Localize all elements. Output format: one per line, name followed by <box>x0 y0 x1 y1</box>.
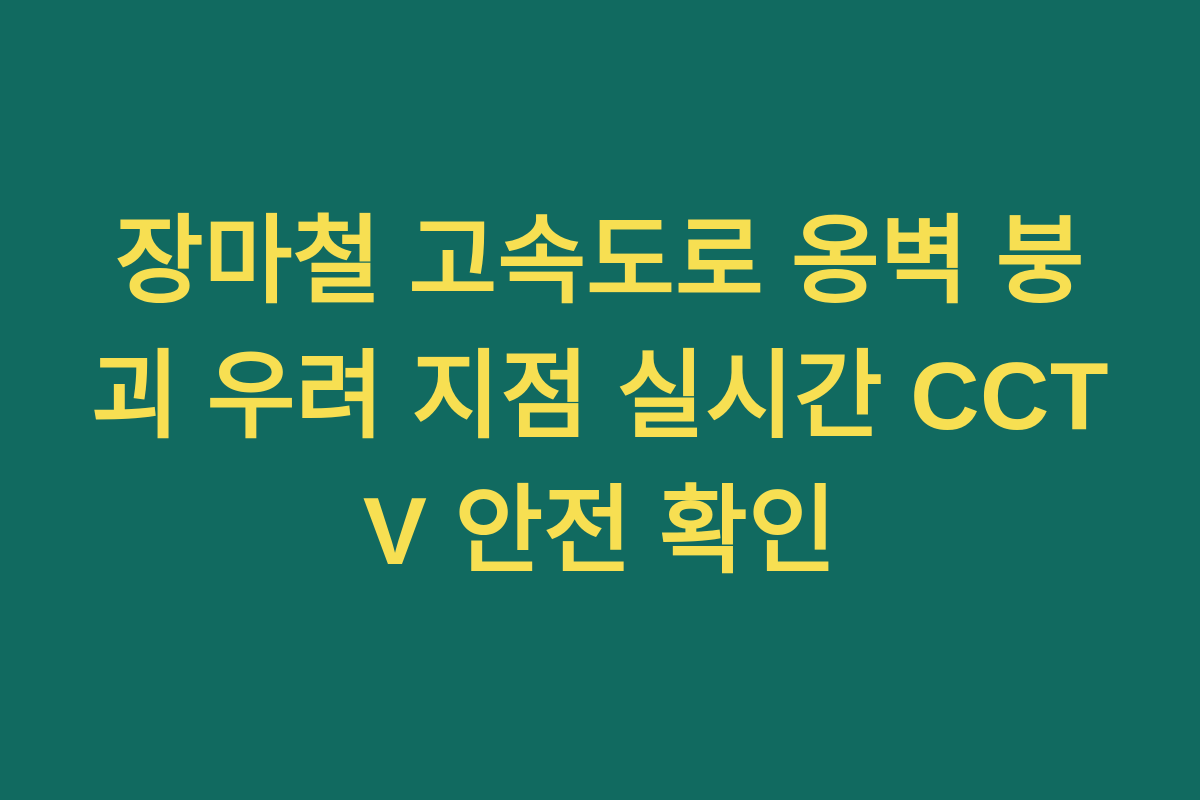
headline-text: 장마철 고속도로 옹벽 붕괴 우려 지점 실시간 CCTV 안전 확인 <box>90 194 1110 599</box>
thumbnail-card: 장마철 고속도로 옹벽 붕괴 우려 지점 실시간 CCTV 안전 확인 <box>0 0 1200 800</box>
headline-block: 장마철 고속도로 옹벽 붕괴 우려 지점 실시간 CCTV 안전 확인 <box>90 194 1110 599</box>
